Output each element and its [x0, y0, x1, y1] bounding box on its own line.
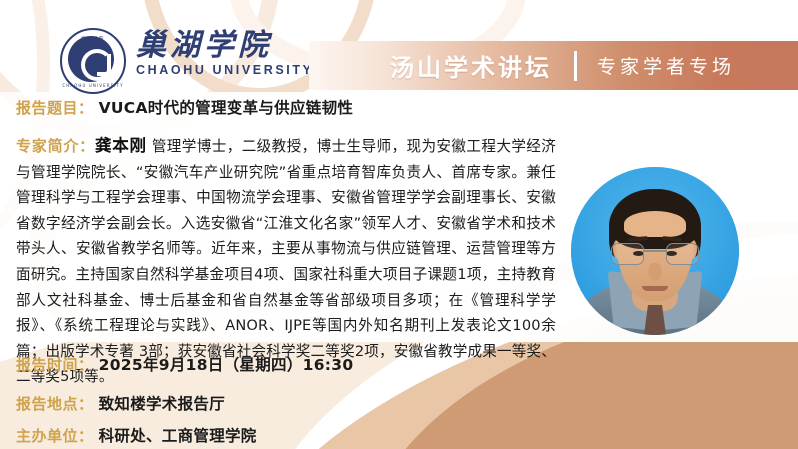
- speaker-bio-block: 专家简介：龚本刚 管理学博士，二级教授，博士生导师，现为安徽工程大学经济与管理学…: [16, 133, 556, 390]
- report-time-label: 报告时间：: [16, 356, 94, 374]
- poster-content: 报告题目： VUCA时代的管理变革与供应链韧性 专家简介：龚本刚 管理学博士，二…: [0, 0, 798, 449]
- report-host-row: 主办单位： 科研处、工商管理学院: [16, 424, 257, 446]
- speaker-name: 龚本刚: [95, 136, 147, 155]
- report-title-row: 报告题目： VUCA时代的管理变革与供应链韧性: [16, 96, 353, 118]
- speaker-bio-label: 专家简介：: [16, 137, 95, 155]
- report-place-value: 致知楼学术报告厅: [99, 395, 225, 413]
- report-time-value: 2025年9月18日（星期四）16:30: [99, 356, 354, 374]
- report-place-label: 报告地点：: [16, 395, 94, 413]
- report-host-label: 主办单位：: [16, 427, 94, 445]
- report-title-value: VUCA时代的管理变革与供应链韧性: [99, 99, 354, 117]
- speaker-bio-text: 管理学博士，二级教授，博士生导师，现为安徽工程大学经济与管理学院院长、“安徽汽车…: [16, 138, 556, 385]
- report-title-label: 报告题目：: [16, 99, 94, 117]
- speaker-bio-paragraph: 专家简介：龚本刚 管理学博士，二级教授，博士生导师，现为安徽工程大学经济与管理学…: [16, 133, 556, 390]
- report-place-row: 报告地点： 致知楼学术报告厅: [16, 392, 225, 414]
- report-time-row: 报告时间： 2025年9月18日（星期四）16:30: [16, 353, 353, 375]
- seminar-poster: 巢湖学院 CHAOHU UNIVERSITY 巢湖学院 CHAOHU UNIVE…: [0, 0, 798, 449]
- report-host-value: 科研处、工商管理学院: [99, 427, 257, 445]
